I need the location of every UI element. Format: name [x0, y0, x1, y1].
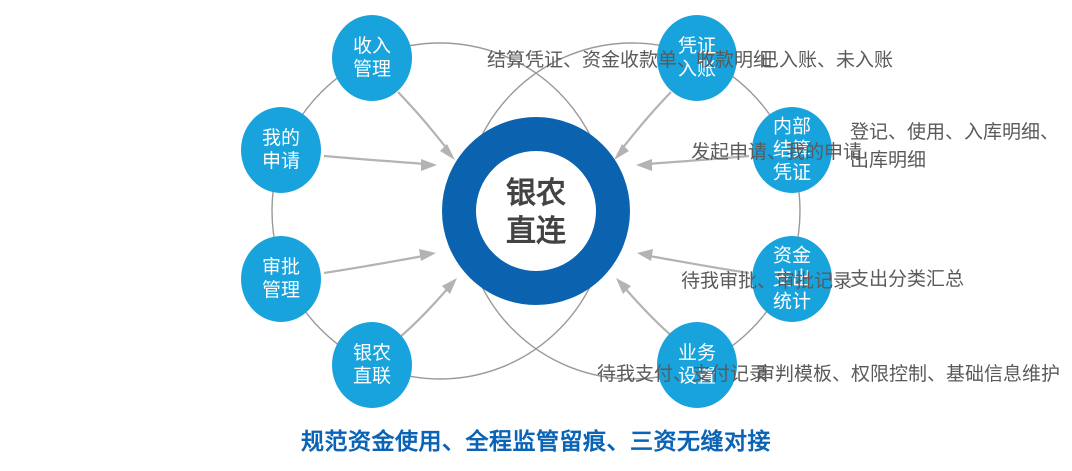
label-internal-settlement-voucher-detail-line2: 出库明细	[850, 147, 1059, 175]
arrow-head-fund-expenditure-statistics	[637, 249, 653, 261]
label-bank-farmer-direct-detail: 待我支付、支付记录	[597, 361, 768, 389]
arrow-head-my-application	[421, 159, 437, 171]
core-title-line2: 直连	[506, 214, 567, 249]
label-fund-expenditure-statistics-detail-line1: 支出分类汇总	[850, 266, 964, 294]
arrow-path-income-management	[398, 92, 448, 150]
node-label-bank-farmer-direct-line1: 银农	[353, 342, 391, 364]
arrow-head-voucher-posting	[614, 144, 629, 160]
label-income-management-detail-line1: 结算凭证、资金收款单、收款明细	[487, 47, 772, 75]
arrow-path-voucher-posting	[621, 92, 671, 150]
label-internal-settlement-voucher-detail-line1: 登记、使用、入库明细、	[850, 119, 1059, 147]
label-income-management-detail: 结算凭证、资金收款单、收款明细	[487, 47, 772, 75]
label-voucher-posting-detail: 已入账、未入账	[760, 47, 893, 75]
arrow-path-business-settings	[624, 287, 673, 337]
label-bank-farmer-direct-detail-line1: 待我支付、支付记录	[597, 361, 768, 389]
core-title-line1: 银农	[506, 176, 566, 211]
node-label-approval-management-line1: 审批	[262, 256, 300, 278]
diagram-caption: 规范资金使用、全程监管留痕、三资无缝对接	[0, 422, 1072, 456]
label-business-settings-detail: 审判模板、权限控制、基础信息维护	[756, 361, 1060, 389]
arrow-path-approval-management	[324, 256, 424, 273]
node-label-approval-management-line2: 管理	[262, 279, 300, 301]
arrow-head-income-management	[440, 144, 455, 160]
node-bank-farmer-direct[interactable]: 银农直联	[332, 322, 412, 408]
label-approval-management-detail: 待我审批、审批记录	[681, 268, 852, 296]
node-approval-management[interactable]: 审批管理	[241, 236, 321, 322]
label-approval-management-detail-line1: 待我审批、审批记录	[681, 268, 852, 296]
node-label-income-management-line2: 管理	[353, 58, 391, 80]
core-hub: 银农 直连	[459, 134, 613, 288]
node-label-fund-expenditure-statistics-line1: 资金	[773, 245, 811, 267]
label-internal-settlement-voucher-detail: 登记、使用、入库明细、出库明细	[850, 119, 1059, 174]
node-label-internal-settlement-voucher-line1: 内部	[773, 116, 811, 138]
label-my-application-detail: 发起申请、我的申请	[691, 139, 862, 167]
core-inner-fill	[476, 151, 596, 271]
label-voucher-posting-detail-line1: 已入账、未入账	[760, 47, 893, 75]
diagram-canvas: 银农 直连 收入管理我的申请审批管理银农直联凭证入账内部结算凭证资金支出统计业务…	[0, 0, 1072, 471]
arrow-head-approval-management	[419, 249, 436, 261]
node-income-management[interactable]: 收入管理	[332, 15, 412, 101]
label-my-application-detail-line1: 发起申请、我的申请	[691, 139, 862, 167]
node-label-my-application-line2: 申请	[262, 150, 300, 172]
arrow-path-bank-farmer-direct	[400, 287, 449, 337]
node-label-bank-farmer-direct-line2: 直联	[353, 365, 391, 387]
label-fund-expenditure-statistics-detail: 支出分类汇总	[850, 266, 964, 294]
node-my-application[interactable]: 我的申请	[241, 107, 321, 193]
label-business-settings-detail-line1: 审判模板、权限控制、基础信息维护	[756, 361, 1060, 389]
node-label-my-application-line1: 我的	[262, 127, 300, 149]
arrow-head-internal-settlement-voucher	[636, 159, 652, 171]
node-label-income-management-line1: 收入	[353, 35, 391, 57]
arrow-path-my-application	[324, 156, 425, 164]
